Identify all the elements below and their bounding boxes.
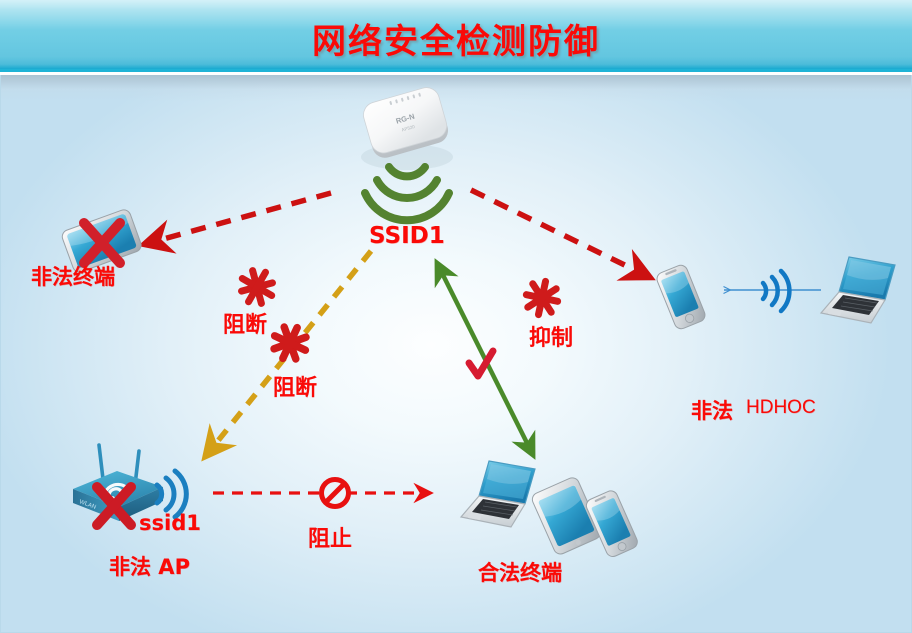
rogue-ap-label: 非法 AP (109, 551, 190, 581)
laptop-icon (461, 461, 535, 527)
node-legit-clients[interactable] (453, 457, 643, 572)
rogue-client-label: 非法终端 (31, 261, 115, 291)
node-rogue-adhoc-phone[interactable] (641, 257, 721, 342)
page-title: 网络安全检测防御 (0, 14, 912, 63)
rogue-adhoc-label-en: HDHOC (746, 397, 816, 419)
node-rogue-adhoc-laptop[interactable] (813, 253, 905, 338)
legit-devices-icon (453, 457, 643, 567)
wifi-icon-blue (749, 263, 799, 319)
node-layer: RG-N AP520 SSID1 (1, 75, 912, 633)
laptop-icon (813, 253, 905, 333)
slide-canvas: 网络安全检测防御 (0, 0, 912, 633)
adhoc-wifi-signal (749, 263, 799, 324)
connector-label-prevent: 阻止 (308, 521, 352, 553)
wifi-signal-green (365, 167, 449, 220)
connector-label-block-rogue-client: 阻断 (223, 307, 267, 339)
ap-ssid-label: SSID1 (369, 223, 445, 249)
rogue-ap-ssid-label: ssid1 (139, 511, 201, 535)
smartphone-icon (641, 257, 721, 337)
legit-clients-label: 合法终端 (478, 557, 562, 587)
connector-label-block-rogue-ap: 阻断 (273, 370, 317, 402)
connector-label-suppress-adhoc: 抑制 (529, 320, 573, 352)
diagram-body: RG-N AP520 SSID1 (0, 75, 912, 633)
rogue-adhoc-label-cn: 非法 (691, 395, 733, 425)
